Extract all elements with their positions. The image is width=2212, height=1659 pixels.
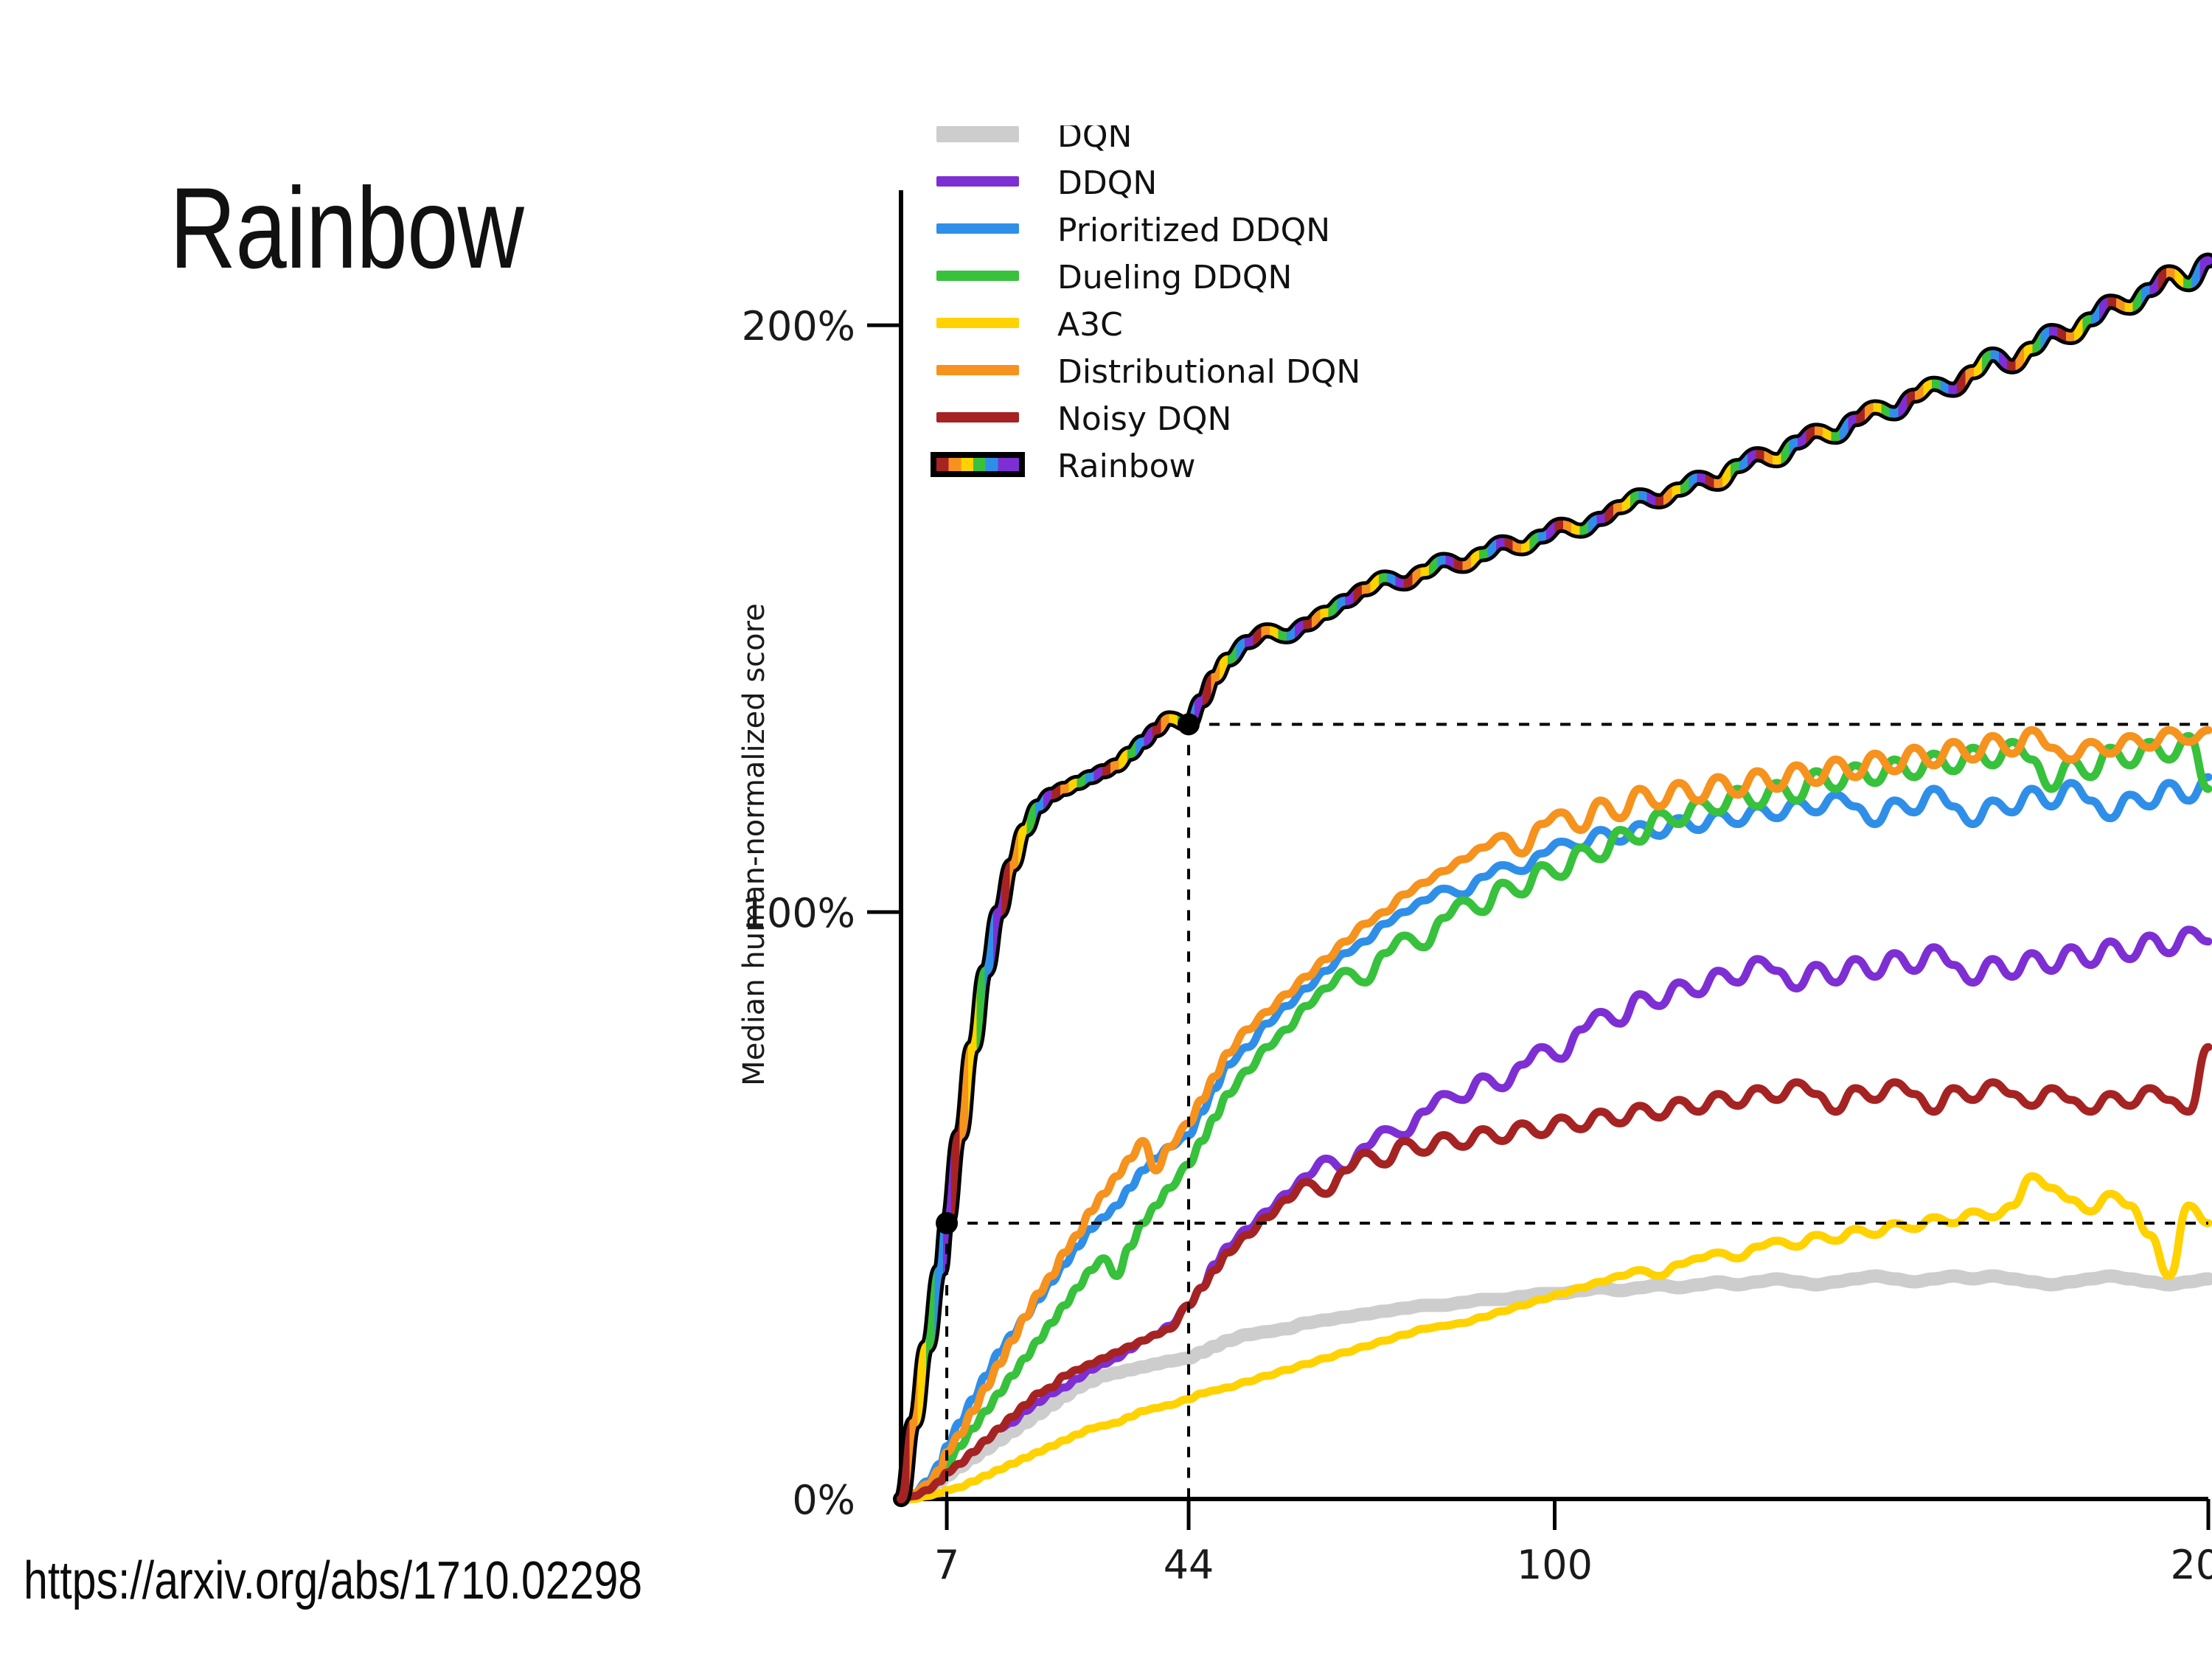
legend-swatch-dqn	[936, 126, 1019, 142]
legend-label-dueling-ddqn: Dueling DDQN	[1057, 259, 1292, 296]
x-tick-label-7: 7	[934, 1542, 959, 1585]
legend-label-a3c: A3C	[1057, 306, 1123, 344]
legend-label-distributional-dqn: Distributional DQN	[1057, 353, 1360, 391]
legend-label-ddqn: DDQN	[1057, 164, 1157, 202]
rainbow-performance-chart: 0%100%200%744100200Millions of framesMed…	[693, 125, 2212, 1585]
legend-swatch-distributional-dqn	[936, 365, 1019, 375]
x-tick-label-200: 200	[2170, 1542, 2212, 1585]
series-line-rainbow	[901, 261, 2208, 1499]
x-tick-label-100: 100	[1517, 1542, 1593, 1585]
source-url-text: https://arxiv.org/abs/1710.02298	[24, 1554, 642, 1607]
series-line-prioritized-ddqn	[901, 777, 2208, 1499]
page-title: Rainbow	[170, 171, 524, 286]
y-axis-title: Median human-normalized score	[737, 603, 771, 1086]
legend-label-prioritized-ddqn: Prioritized DDQN	[1057, 212, 1330, 249]
y-tick-label-0%: 0%	[792, 1477, 855, 1523]
series-line-rainbow-outline	[901, 261, 2208, 1499]
legend-swatch-a3c	[936, 318, 1019, 328]
legend-label-rainbow: Rainbow	[1057, 448, 1196, 485]
marker-dot-7-frames	[936, 1212, 958, 1234]
legend-swatch-rainbow	[936, 458, 1019, 471]
legend-swatch-noisy-dqn	[936, 412, 1019, 422]
legend-swatch-prioritized-ddqn	[936, 223, 1019, 234]
slide-canvas: Rainbow https://arxiv.org/abs/1710.02298…	[0, 0, 2212, 1659]
x-tick-label-44: 44	[1164, 1542, 1214, 1585]
legend-swatch-ddqn	[936, 176, 1019, 187]
legend-label-dqn: DQN	[1057, 125, 1132, 155]
chart-svg: 0%100%200%744100200Millions of framesMed…	[693, 125, 2212, 1585]
series-line-ddqn	[901, 930, 2208, 1499]
legend-label-noisy-dqn: Noisy DQN	[1057, 400, 1231, 438]
series-line-dqn	[901, 1276, 2208, 1499]
marker-dot-44-frames	[1178, 713, 1200, 735]
legend-swatch-dueling-ddqn	[936, 271, 1019, 281]
y-tick-label-200%: 200%	[742, 303, 855, 349]
